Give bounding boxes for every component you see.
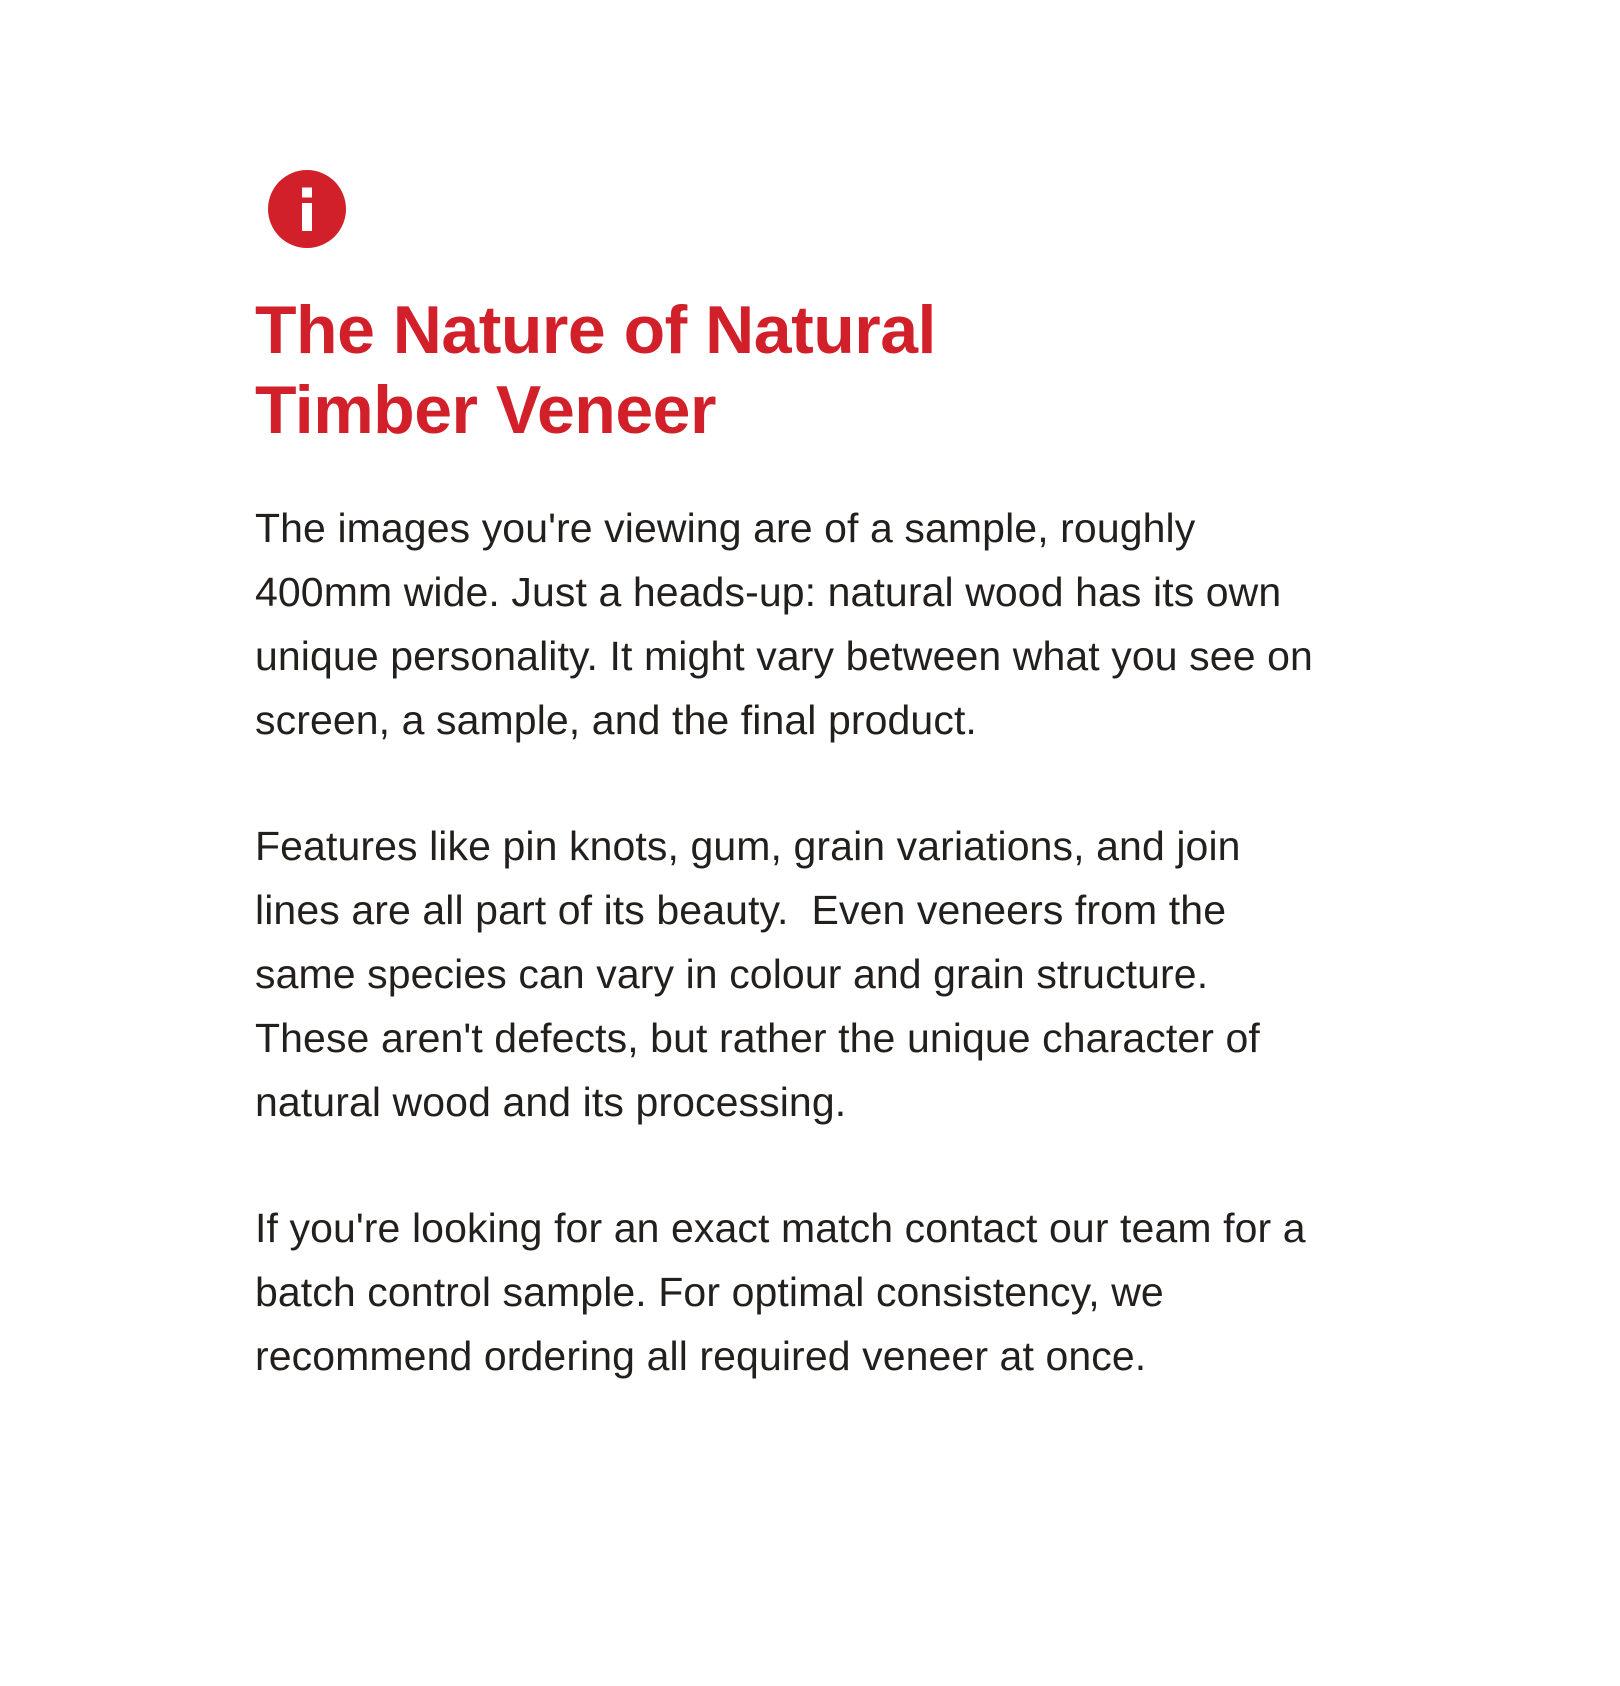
info-icon-graphic: [268, 170, 346, 248]
info-notice-card: The Nature of Natural Timber Veneer The …: [0, 0, 1620, 1686]
page-title-line-2: Timber Veneer: [255, 370, 1015, 450]
page-title: The Nature of Natural Timber Veneer: [255, 290, 1015, 450]
notice-paragraph-2: Features like pin knots, gum, grain vari…: [255, 814, 1315, 1134]
notice-paragraph-3: If you're looking for an exact match con…: [255, 1196, 1315, 1388]
page-title-line-1: The Nature of Natural: [255, 290, 1015, 370]
notice-body: The images you're viewing are of a sampl…: [255, 496, 1315, 1388]
notice-paragraph-1: The images you're viewing are of a sampl…: [255, 496, 1315, 752]
info-icon: [268, 170, 346, 248]
